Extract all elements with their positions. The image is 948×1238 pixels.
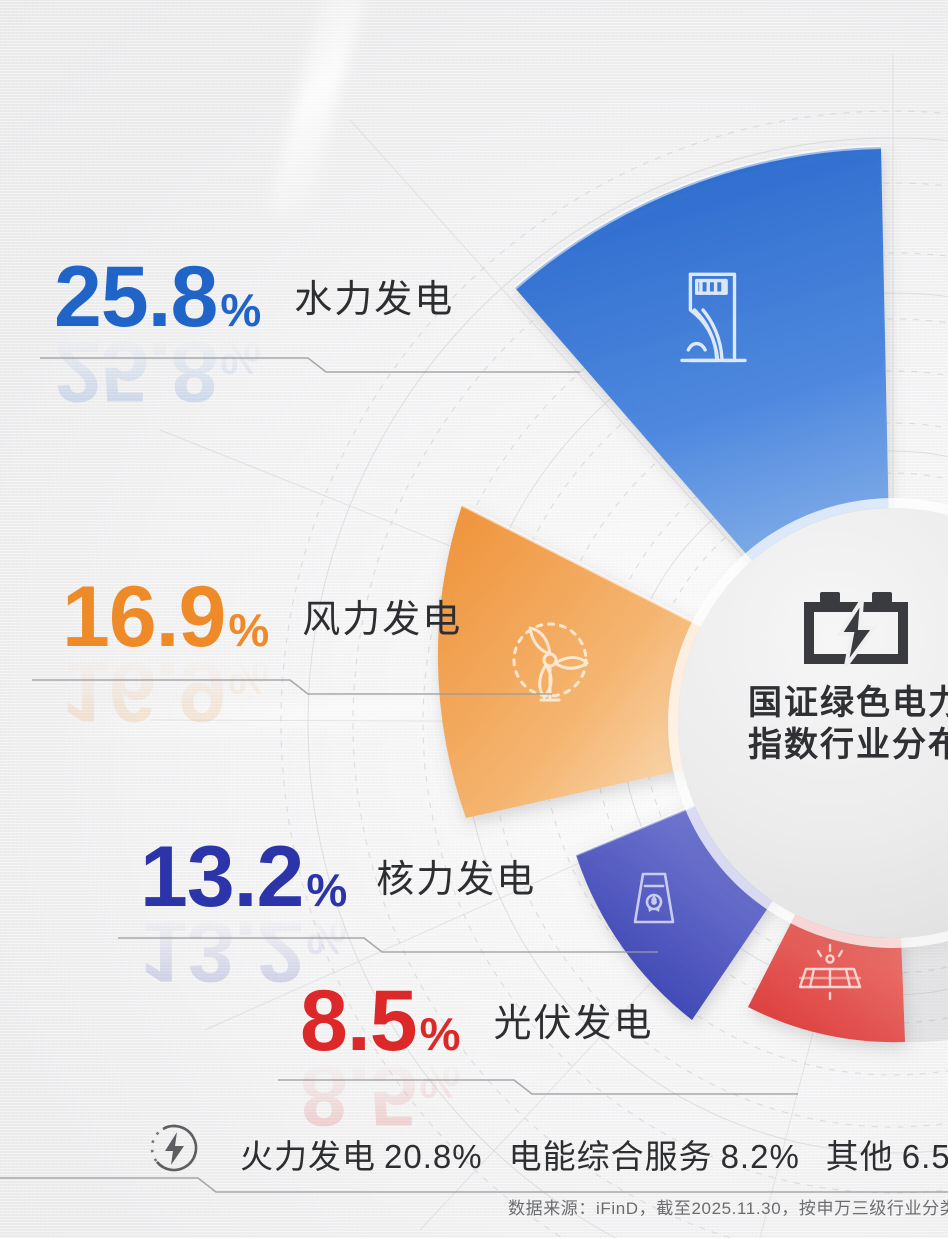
footer-item-others-name: 其他 [826,1138,894,1175]
battery-bolt-icon [800,590,912,668]
callout-nuclear-label: 核力发电 [376,848,536,903]
callout-solar[interactable]: 8.5% 光伏发电 8.5% [300,982,653,1134]
callout-solar-label: 光伏发电 [493,992,653,1047]
footer-item-others[interactable]: 其他6.5% [826,1130,948,1178]
callout-hydro-label: 水力发电 [294,268,454,323]
footer-items: 火力发电20.8% 电能综合服务8.2% 其他6.5% [240,1130,948,1178]
data-source-note: 数据来源：iFinD，截至2025.11.30，按申万三级行业分类 [508,1194,948,1219]
callout-hydro[interactable]: 25.8% 水力发电 25.8% [54,258,454,410]
center-hub-content: 国证绿色电力 指数行业分布 [706,590,948,860]
infographic-poster: 国证绿色电力 指数行业分布 25.8% 水力发电 25.8% 16.9% 风力发… [0,0,948,1238]
callout-wind-value: 16.9% [62,578,268,657]
footer-item-energy-services-name: 电能综合服务 [509,1138,713,1175]
footer-item-thermal[interactable]: 火力发电20.8% [240,1130,483,1178]
bolt-circle-icon [146,1120,202,1176]
callout-wind-label: 风力发电 [302,588,462,643]
footer-item-thermal-name: 火力发电 [240,1138,376,1175]
hub-title-line2: 指数行业分布 [748,724,948,766]
callout-nuclear[interactable]: 13.2% 核力发电 13.2% [140,838,536,990]
footer-item-energy-services[interactable]: 电能综合服务8.2% [509,1130,800,1178]
callout-wind[interactable]: 16.9% 风力发电 16.9% [62,578,462,730]
callout-solar-value: 8.5% [300,982,459,1061]
footer-item-others-value: 6.5% [902,1138,948,1175]
footer-strip: 火力发电20.8% 电能综合服务8.2% 其他6.5% 数据来源：iFinD，截… [128,1118,928,1230]
hub-title-line1: 国证绿色电力 [748,682,948,724]
footer-item-energy-services-value: 8.2% [721,1138,800,1175]
callout-hydro-value: 25.8% [54,258,260,337]
footer-item-thermal-value: 20.8% [384,1138,483,1175]
callout-nuclear-value: 13.2% [140,838,346,917]
